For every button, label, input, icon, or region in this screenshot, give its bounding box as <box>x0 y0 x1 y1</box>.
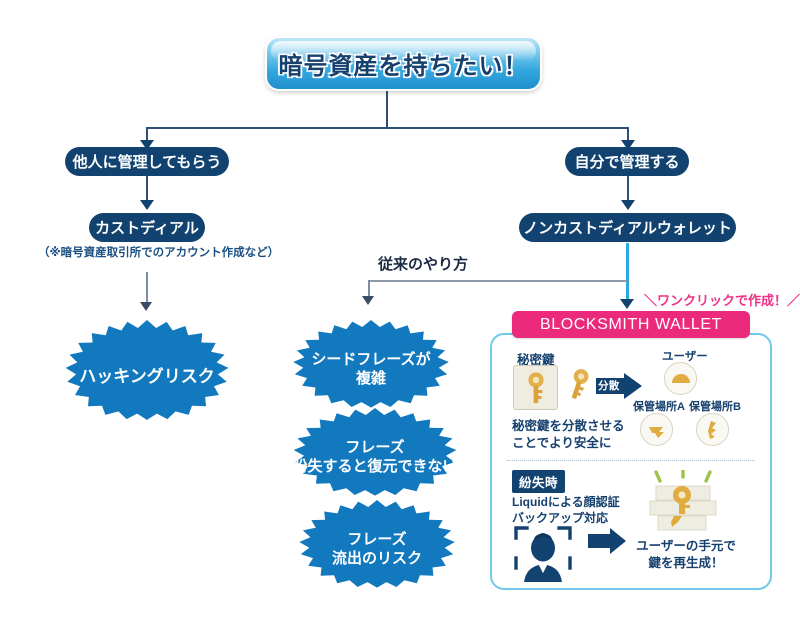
burst-risk-phrase-lost: フレーズ 紛失すると復元できない <box>285 408 465 508</box>
key-icon <box>523 371 549 405</box>
key-fragment-icon <box>670 368 692 390</box>
label-store-a: 保管場所A <box>633 398 685 414</box>
key-fragment-icon <box>646 419 668 441</box>
face-recognition-icon <box>512 524 574 582</box>
panel-divider <box>507 460 755 461</box>
connector-root-stem <box>386 91 388 128</box>
burst-risk-seedphrase-complex: シードフレーズが 複雑 <box>285 320 457 420</box>
burst-risk-2-line-1: フレーズ <box>345 439 404 456</box>
node-selfcustody-choice-label: 自分で管理する <box>575 151 680 172</box>
wallet-panel-title: BLOCKSMITH WALLET <box>540 316 722 334</box>
connector-cyan-to-wallet <box>626 243 629 301</box>
burst-hacking-risk: ハッキングリスク <box>57 320 237 434</box>
node-noncustodial-wallet[interactable]: ノンカストディアルウォレット <box>519 213 736 242</box>
arrow-down-icon-custodial <box>140 200 154 210</box>
node-custodial-wallet-label: カストディアル <box>95 217 199 238</box>
store-a-key-circle <box>640 413 673 446</box>
burst-risk-2-text: フレーズ 紛失すると復元できない <box>292 439 457 477</box>
label-store-b: 保管場所B <box>689 398 741 414</box>
burst-risk-3-line-1: フレーズ <box>347 531 406 548</box>
caption-key-regenerated-line-1: ユーザーの手元で <box>636 539 736 553</box>
callout-oneclick-text: ＼ワンクリックで作成！／ <box>644 293 800 308</box>
arrow-down-icon-hacking-risk <box>140 302 152 311</box>
connector-split-bar <box>146 127 628 129</box>
arrow-right-regenerate <box>588 528 626 554</box>
caption-key-regenerated-line-2: 鍵を再生成！ <box>648 556 723 570</box>
node-noncustodial-wallet-label: ノンカストディアルウォレット <box>523 217 732 238</box>
key-regeneration-graphic <box>646 470 720 532</box>
burst-risk-3-line-2: 流出のリスク <box>332 550 422 567</box>
key-regeneration-graphic <box>646 470 720 532</box>
arrow-right-icon <box>588 528 626 554</box>
caption-distribute-key-line-2: ことでより安全に <box>512 436 611 450</box>
burst-risk-1-line-1: シードフレーズが <box>311 351 430 368</box>
desc-face-auth-line-1: Liquidによる顔認証 <box>512 495 620 509</box>
connector-selfcustody-stem <box>627 176 629 202</box>
label-store-b-text: 保管場所B <box>689 401 741 413</box>
root-node-label: 暗号資産を持ちたい！ <box>279 46 529 81</box>
connector-custodial-stem <box>146 176 148 202</box>
secret-key-box <box>513 365 558 410</box>
burst-hacking-risk-label: ハッキングリスク <box>79 366 215 387</box>
split-arrow-label: 分散 <box>598 378 620 393</box>
burst-risk-1-line-2: 複雑 <box>356 370 386 387</box>
badge-lost-case: 紛失時 <box>512 470 565 493</box>
caption-key-regenerated: ユーザーの手元で 鍵を再生成！ <box>636 538 736 572</box>
connector-hacking-risk <box>146 272 148 304</box>
node-custodial-choice-label: 他人に管理してもらう <box>73 151 222 172</box>
connector-to-traditional <box>368 280 627 282</box>
note-custodial: （※暗号資産取引所でのアカウント作成など） <box>38 244 279 260</box>
secret-key-loose <box>563 365 593 408</box>
split-arrow: 分散 <box>596 373 642 399</box>
burst-risk-3-text: フレーズ 流出のリスク <box>332 531 422 569</box>
key-icon <box>563 365 593 408</box>
root-node: 暗号資産を持ちたい！ <box>265 36 542 91</box>
note-custodial-text: （※暗号資産取引所でのアカウント作成など） <box>38 247 279 259</box>
arrow-down-icon-traditional <box>362 296 374 305</box>
badge-lost-case-text: 紛失時 <box>512 470 565 493</box>
node-custodial-choice[interactable]: 他人に管理してもらう <box>65 147 229 176</box>
caption-distribute-key: 秘密鍵を分散させる ことでより安全に <box>512 418 625 452</box>
label-user-text: ユーザー <box>662 351 708 363</box>
key-fragment-icon <box>702 419 724 441</box>
node-selfcustody-choice[interactable]: 自分で管理する <box>565 147 689 176</box>
arrow-down-icon-to-wallet <box>620 299 634 309</box>
wallet-panel-title-bar: BLOCKSMITH WALLET <box>512 311 750 338</box>
caption-distribute-key-line-1: 秘密鍵を分散させる <box>512 419 625 433</box>
burst-risk-phrase-leak: フレーズ 流出のリスク <box>291 500 463 600</box>
callout-oneclick: ＼ワンクリックで作成！／ <box>644 290 800 309</box>
burst-risk-2-line-2: 紛失すると復元できない <box>292 458 457 475</box>
burst-risk-1-text: シードフレーズが 複雑 <box>311 351 430 389</box>
face-recognition-icon <box>512 524 574 582</box>
label-store-a-text: 保管場所A <box>633 401 685 413</box>
arrow-down-icon-selfcustody <box>621 200 635 210</box>
edge-label-traditional: 従来のやり方 <box>378 253 468 274</box>
store-b-key-circle <box>696 413 729 446</box>
desc-face-auth-backup: Liquidによる顔認証 バックアップ対応 <box>512 494 620 526</box>
edge-label-traditional-text: 従来のやり方 <box>378 256 468 273</box>
label-user: ユーザー <box>662 348 708 364</box>
node-custodial-wallet[interactable]: カストディアル <box>89 213 205 242</box>
user-key-circle <box>664 362 697 395</box>
